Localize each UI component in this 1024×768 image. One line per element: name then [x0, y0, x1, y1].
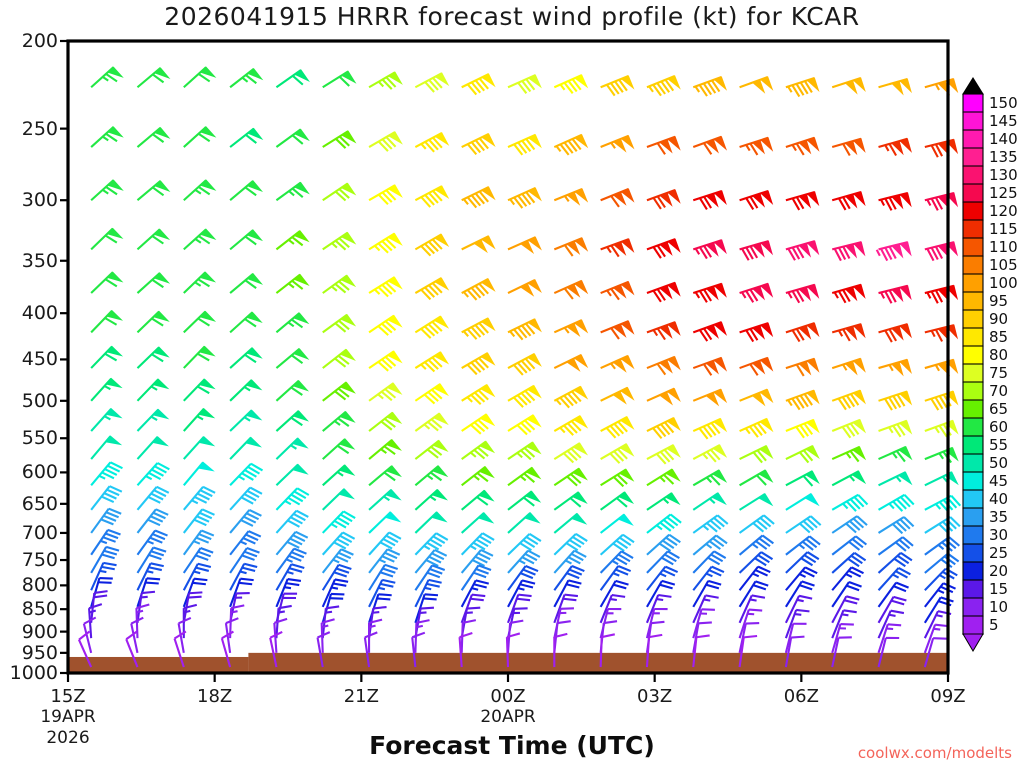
wind-barb [415, 73, 448, 92]
wind-barb [693, 322, 726, 341]
x-tick-date-19APR: 19APR [40, 707, 95, 727]
colorbar-tick-145: 145 [989, 112, 1018, 130]
colorbar-segment [963, 526, 983, 544]
wind-barb [369, 132, 401, 151]
wind-barb [554, 492, 586, 510]
wind-barb [786, 494, 818, 510]
wind-barb [925, 392, 958, 411]
wind-barb [91, 311, 121, 333]
wind-barb [323, 439, 354, 459]
wind-barb [647, 389, 680, 404]
wind-barb [508, 468, 540, 486]
plot-canvas [0, 0, 1024, 768]
wind-barb [462, 187, 495, 207]
wind-barb [832, 139, 864, 156]
y-tick-1000: 1000 [0, 662, 58, 684]
y-tick-700: 700 [0, 522, 58, 544]
wind-barb [415, 352, 447, 371]
wind-barb [184, 312, 215, 333]
wind-barb [554, 75, 587, 93]
wind-barb [230, 438, 260, 460]
wind-barb [462, 353, 494, 374]
wind-barb [647, 445, 680, 464]
wind-barb [740, 323, 773, 342]
y-tick-300: 300 [0, 189, 58, 211]
wind-barb [647, 418, 680, 438]
wind-barb [554, 189, 587, 204]
wind-barb [554, 135, 587, 155]
wind-barb [230, 69, 262, 87]
colorbar-tick-85: 85 [989, 328, 1008, 346]
wind-barb [91, 462, 122, 485]
colorbar-segment [963, 94, 983, 112]
wind-barb [369, 351, 401, 371]
wind-barb [230, 510, 261, 533]
wind-barb [925, 286, 957, 303]
colorbar-tick-100: 100 [989, 274, 1018, 292]
wind-barb [832, 359, 865, 374]
colorbar-segment [963, 454, 983, 472]
wind-barb [647, 469, 679, 485]
wind-barb [415, 490, 446, 510]
wind-barb [91, 379, 121, 401]
colorbar-under-arrow [963, 634, 983, 651]
wind-barb [415, 466, 446, 485]
wind-barb [276, 464, 307, 485]
colorbar-tick-150: 150 [989, 94, 1018, 112]
colorbar-tick-50: 50 [989, 454, 1008, 472]
wind-barb [137, 437, 167, 459]
wind-barb [137, 229, 168, 249]
wind-barb [693, 137, 726, 155]
wind-barb [508, 566, 538, 590]
wind-barb [137, 181, 168, 200]
wind-barb [415, 533, 447, 555]
wind-barb [601, 444, 633, 463]
wind-barb [647, 567, 678, 591]
wind-barb [554, 281, 587, 299]
wind-barb [415, 278, 447, 299]
colorbar-tick-105: 105 [989, 256, 1018, 274]
colorbar-segment [963, 364, 983, 382]
wind-barb [415, 413, 447, 431]
wind-barb [693, 470, 725, 485]
wind-barb [369, 233, 401, 252]
wind-barb [91, 509, 121, 533]
wind-barb [879, 495, 914, 511]
wind-barb [554, 534, 587, 555]
wind-barb [323, 382, 355, 400]
wind-barb [91, 486, 122, 510]
wind-barb [462, 414, 494, 434]
colorbar-segment [963, 328, 983, 346]
wind-barb [693, 77, 726, 96]
wind-barb [508, 354, 541, 375]
wind-barb [601, 417, 634, 438]
wind-barb [693, 284, 726, 303]
wind-barb [323, 315, 355, 333]
wind-barb [740, 470, 772, 485]
wind-barb [369, 413, 401, 431]
wind-barb [184, 180, 215, 200]
colorbar-tick-45: 45 [989, 472, 1008, 490]
wind-barb [137, 68, 168, 87]
wind-barb [879, 472, 912, 485]
colorbar-segment [963, 274, 983, 292]
wind-barb [508, 442, 540, 459]
wind-barb [554, 514, 585, 533]
wind-barb [508, 386, 540, 407]
wind-barb [184, 409, 214, 431]
wind-barb [925, 472, 958, 485]
wind-barb [879, 286, 911, 303]
colorbar-tick-25: 25 [989, 544, 1008, 562]
wind-barb [879, 447, 912, 462]
colorbar-segment [963, 598, 983, 616]
colorbar-segment [963, 544, 983, 562]
wind-barb [832, 192, 864, 210]
wind-barb [184, 437, 214, 459]
colorbar-segment [963, 490, 983, 508]
wind-barb [323, 233, 355, 250]
wind-barb [276, 275, 308, 293]
wind-barb [508, 319, 541, 339]
y-tick-800: 800 [0, 574, 58, 596]
y-tick-500: 500 [0, 390, 58, 412]
colorbar-segment [963, 292, 983, 310]
wind-barb [230, 348, 261, 368]
wind-barb [601, 136, 634, 151]
wind-barb [508, 415, 540, 434]
wind-barb [925, 79, 957, 94]
wind-barb [740, 138, 773, 155]
colorbar-segment [963, 472, 983, 490]
wind-barb [740, 77, 773, 92]
wind-barb [184, 272, 215, 293]
colorbar-segment [963, 184, 983, 202]
wind-barb [879, 139, 911, 156]
wind-barb [91, 409, 121, 431]
wind-barb [276, 313, 307, 332]
colorbar-tick-80: 80 [989, 346, 1008, 364]
x-tick-21Z: 21Z [344, 686, 379, 707]
wind-barb [693, 445, 726, 462]
wind-barb [508, 237, 541, 252]
wind-barb [879, 193, 911, 210]
wind-barb [879, 392, 912, 411]
colorbar-segment [963, 220, 983, 238]
wind-barb [323, 275, 355, 293]
wind-barb [462, 513, 493, 533]
wind-barb [786, 536, 820, 554]
wind-barb [91, 272, 122, 293]
x-tick-00Z: 00Z [490, 686, 525, 707]
wind-barb [554, 469, 586, 486]
colorbar-segment [963, 112, 983, 130]
wind-barb [554, 355, 587, 370]
wind-barb [230, 410, 261, 431]
wind-barb [647, 239, 680, 258]
wind-barb [740, 419, 773, 437]
y-tick-350: 350 [0, 250, 58, 272]
wind-barb [601, 388, 634, 403]
wind-barb [415, 186, 448, 207]
wind-barb [740, 284, 773, 303]
wind-barb [462, 134, 495, 154]
wind-barb [925, 193, 957, 210]
wind-barb [554, 387, 587, 408]
wind-barb [647, 514, 681, 532]
colorbar-tick-15: 15 [989, 580, 1008, 598]
wind-barb [137, 509, 168, 533]
wind-barb [601, 282, 634, 300]
wind-barb [554, 416, 586, 435]
wind-barb [276, 488, 308, 510]
wind-barb [601, 535, 634, 555]
wind-barb [740, 494, 772, 510]
wind-barb [462, 318, 495, 339]
wind-barb [877, 242, 911, 260]
colorbar-tick-55: 55 [989, 436, 1008, 454]
colorbar-segment [963, 202, 983, 220]
x-tick-15Z: 15Z [50, 686, 85, 707]
wind-barb [276, 438, 307, 459]
colorbar-segment [963, 580, 983, 598]
wind-barb [786, 359, 819, 376]
colorbar-tick-40: 40 [989, 490, 1008, 508]
colorbar-segment [963, 400, 983, 418]
y-tick-200: 200 [0, 30, 58, 52]
wind-barb [601, 189, 634, 207]
wind-barb [230, 380, 261, 401]
wind-barb [925, 554, 959, 573]
colorbar-tick-110: 110 [989, 238, 1018, 256]
wind-barb [323, 71, 355, 87]
wind-barb [693, 515, 728, 533]
wind-barb [415, 512, 446, 533]
wind-barb [323, 412, 354, 431]
colorbar-tick-75: 75 [989, 364, 1008, 382]
wind-barb [554, 443, 586, 462]
wind-barb [786, 516, 821, 533]
colorbar-segment [963, 238, 983, 256]
colorbar-tick-140: 140 [989, 130, 1018, 148]
y-tick-550: 550 [0, 427, 58, 449]
colorbar-tick-60: 60 [989, 418, 1008, 436]
wind-barb [415, 316, 447, 338]
site-credit: coolwx.com/modelts [858, 744, 1012, 762]
wind-barb [276, 349, 307, 368]
wind-barb [91, 229, 122, 250]
wind-barb [879, 537, 914, 555]
wind-barb [508, 135, 541, 155]
wind-barb [832, 495, 867, 511]
y-tick-900: 900 [0, 621, 58, 643]
wind-barb [786, 391, 819, 410]
wind-barb [323, 131, 355, 148]
colorbar-tick-135: 135 [989, 148, 1018, 166]
wind-barb [91, 67, 122, 87]
wind-barb [832, 78, 865, 93]
colorbar-segment [963, 418, 983, 436]
colorbar-tick-120: 120 [989, 202, 1018, 220]
wind-barb [184, 67, 215, 87]
wind-barb [415, 384, 447, 404]
colorbar-segment [963, 166, 983, 184]
colorbar-segment [963, 436, 983, 454]
wind-barb [925, 537, 960, 555]
wind-barb [740, 191, 773, 210]
wind-barb [740, 390, 773, 405]
wind-barb [601, 492, 633, 510]
wind-barb [647, 535, 680, 555]
wind-barb [184, 462, 213, 485]
wind-barb [693, 191, 726, 210]
colorbar-tick-90: 90 [989, 310, 1008, 328]
x-tick-18Z: 18Z [197, 686, 232, 707]
wind-barb [508, 188, 541, 208]
wind-barb [137, 347, 168, 368]
y-tick-750: 750 [0, 549, 58, 571]
wind-barb [832, 447, 865, 462]
wind-barb [462, 279, 495, 300]
wind-barb [925, 360, 957, 375]
colorbar-tick-20: 20 [989, 562, 1008, 580]
colorbar-segment [963, 382, 983, 400]
wind-barb [369, 277, 401, 296]
wind-barb [786, 446, 819, 463]
wind-barb [832, 285, 864, 303]
wind-barb [832, 536, 866, 554]
colorbar-segment [963, 346, 983, 364]
wind-barb [462, 385, 494, 404]
wind-barb [879, 79, 911, 94]
colorbar-tick-35: 35 [989, 508, 1008, 526]
wind-barb [647, 322, 680, 340]
wind-barb [693, 358, 726, 376]
wind-barb [786, 241, 818, 260]
wind-barb [184, 229, 215, 249]
wind-barb [601, 239, 634, 257]
wind-barb [415, 441, 447, 459]
x-tick-09Z: 09Z [930, 686, 965, 707]
wind-barb [601, 469, 633, 486]
wind-barb [415, 234, 447, 255]
wind-barb [786, 285, 818, 303]
wind-barb [601, 76, 634, 96]
wind-barb [323, 350, 355, 368]
wind-barb [137, 273, 168, 293]
wind-barb [230, 488, 262, 510]
wind-barb [369, 316, 401, 336]
wind-barb [925, 140, 957, 157]
wind-barb [786, 420, 819, 438]
wind-barb [925, 517, 960, 533]
wind-barb [369, 383, 401, 401]
wind-barb [832, 471, 865, 485]
wind-barb [369, 490, 400, 510]
wind-barb [647, 137, 680, 155]
wind-barb [693, 419, 726, 439]
wind-barb [647, 190, 680, 209]
wind-barb [137, 379, 167, 401]
wind-barb [230, 129, 262, 147]
wind-barb [184, 509, 215, 533]
wind-barb [740, 515, 775, 533]
wind-barb [276, 70, 308, 87]
colorbar-segment [963, 148, 983, 166]
y-tick-600: 600 [0, 461, 58, 483]
wind-barb [230, 274, 261, 293]
colorbar-tick-130: 130 [989, 166, 1018, 184]
wind-barb [230, 312, 261, 332]
wind-barb [925, 242, 957, 260]
wind-barb [91, 436, 120, 459]
wind-barb [276, 129, 308, 147]
colorbar-tick-70: 70 [989, 382, 1008, 400]
wind-barb [369, 440, 400, 459]
wind-barb [879, 421, 912, 437]
wind-barb [184, 346, 214, 368]
wind-barb [137, 128, 168, 147]
wind-barb [137, 463, 169, 485]
colorbar-segment [963, 616, 983, 634]
wind-barb [137, 409, 167, 431]
colorbar-tick-5: 5 [989, 616, 999, 634]
wind-barb [462, 74, 495, 94]
colorbar-tick-115: 115 [989, 220, 1018, 238]
wind-barb [276, 381, 307, 401]
wind-barb [462, 467, 494, 485]
wind-barb [230, 464, 262, 486]
wind-barb [601, 356, 634, 371]
wind-barb [740, 535, 774, 554]
wind-barb [740, 358, 773, 376]
wind-barb [323, 511, 355, 533]
wind-barb [786, 192, 818, 210]
wind-barb [879, 360, 911, 375]
wind-barb [832, 516, 867, 533]
wind-barb [369, 512, 400, 533]
wind-barb [925, 448, 958, 463]
wind-barb [601, 514, 633, 532]
y-tick-250: 250 [0, 118, 58, 140]
wind-barb [647, 76, 680, 96]
wind-barb [462, 441, 494, 459]
wind-barb [137, 312, 168, 333]
x-tick-06Z: 06Z [784, 686, 819, 707]
wind-barb [832, 420, 865, 438]
colorbar-segment [963, 508, 983, 526]
wind-barb [832, 391, 865, 410]
colorbar-segment [963, 310, 983, 328]
wind-barb [462, 236, 495, 251]
wind-barb [184, 127, 215, 147]
colorbar-tick-125: 125 [989, 184, 1018, 202]
wind-barb [740, 241, 772, 260]
wind-barb [693, 390, 726, 405]
wind-barb [276, 183, 308, 201]
y-tick-450: 450 [0, 348, 58, 370]
wind-barb [925, 325, 957, 341]
colorbar-tick-95: 95 [989, 292, 1008, 310]
colorbar-segment [963, 562, 983, 580]
wind-barb [462, 533, 494, 555]
colorbar-segment [963, 256, 983, 274]
wind-barb [369, 466, 400, 485]
wind-barb [230, 230, 261, 249]
wind-barb [832, 324, 864, 341]
